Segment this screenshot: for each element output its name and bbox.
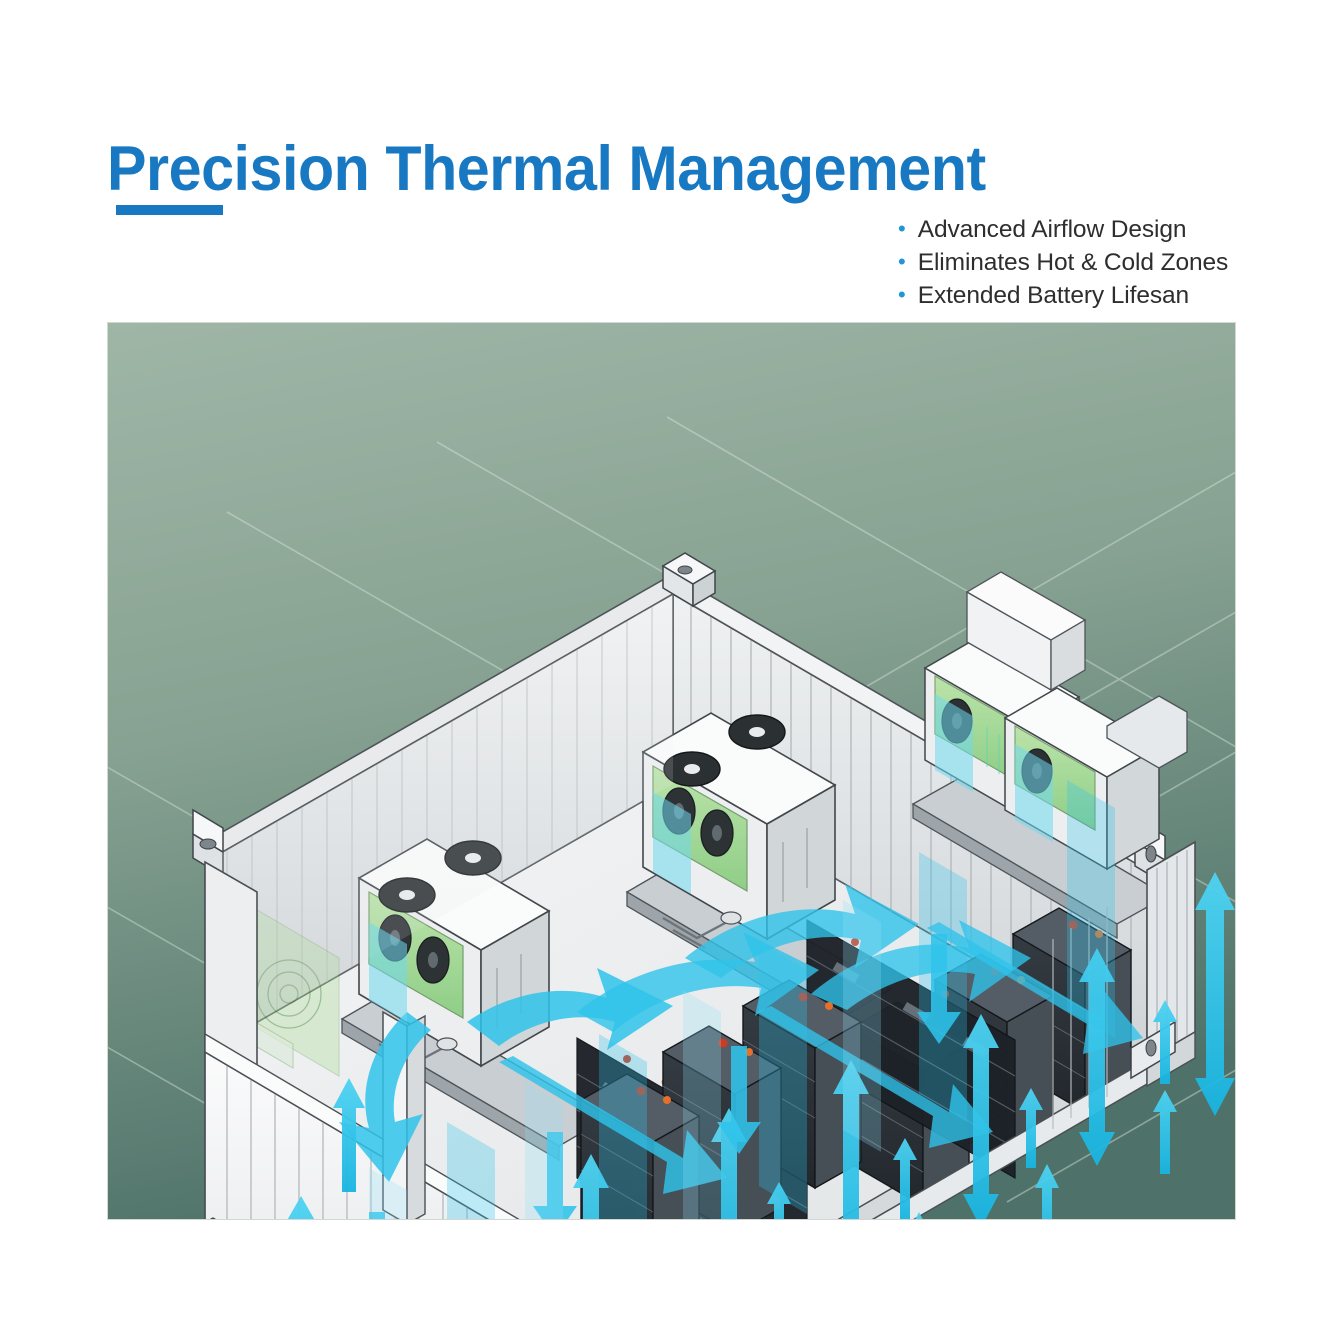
- illustration-panel: [107, 322, 1236, 1220]
- bullet-label: Advanced Airflow Design: [918, 216, 1187, 244]
- list-item: • Extended Battery Lifesan: [898, 282, 1228, 310]
- bullet-dot-icon: •: [898, 284, 906, 306]
- title-underline-rule: [116, 205, 223, 215]
- bullet-dot-icon: •: [898, 218, 906, 240]
- list-item: • Advanced Airflow Design: [898, 216, 1228, 244]
- list-item: • Eliminates Hot & Cold Zones: [898, 249, 1228, 277]
- bullet-dot-icon: •: [898, 251, 906, 273]
- feature-bullet-list: • Advanced Airflow Design • Eliminates H…: [898, 216, 1228, 315]
- bullet-label: Extended Battery Lifesan: [918, 282, 1189, 310]
- page-title: Precision Thermal Management: [107, 136, 986, 202]
- bullet-label: Eliminates Hot & Cold Zones: [918, 249, 1229, 277]
- slide-root: Precision Thermal Management • Advanced …: [0, 0, 1344, 1344]
- bess-container-isometric-diagram: [107, 322, 1236, 1220]
